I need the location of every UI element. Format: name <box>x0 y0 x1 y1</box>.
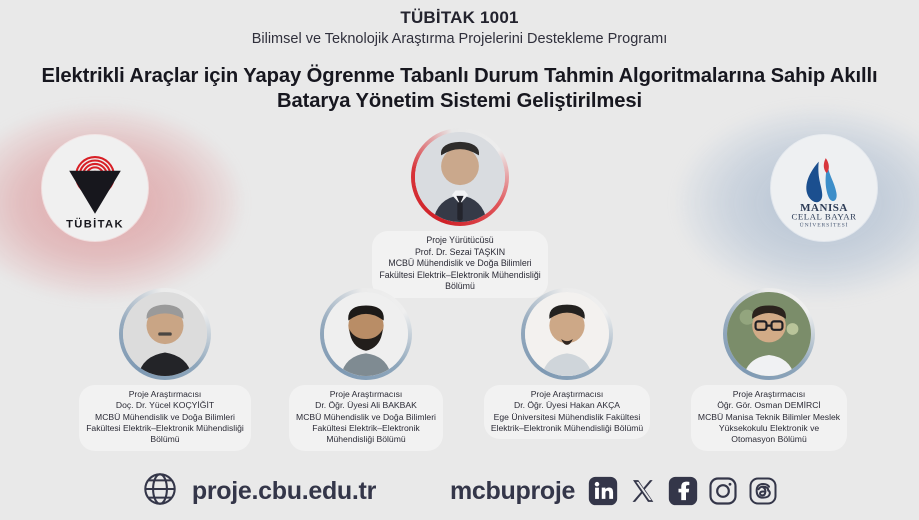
researcher-affiliation-line-2: Yüksekokulu Elektronik ve <box>698 423 840 434</box>
researcher-affiliation-line-3: Bölümü <box>86 434 244 445</box>
researcher-affiliation-line-2: Fakültesi Elektrik–Elektronik Mühendisli… <box>86 423 244 434</box>
mcbu-flame <box>806 158 836 202</box>
social-handle: mcbuproje <box>450 477 575 506</box>
social-group: mcbuproje <box>450 476 778 506</box>
researcher-affiliation-line-3: Otomasyon Bölümü <box>698 434 840 445</box>
threads-icon[interactable] <box>748 476 778 506</box>
poster-canvas: TÜBİTAK 1001 Bilimsel ve Teknolojik Araş… <box>0 0 919 520</box>
researcher-card: Proje Araştırmacısı Dr. Öğr. Üyesi Ali B… <box>278 288 454 451</box>
facebook-icon[interactable] <box>668 476 698 506</box>
leader-affiliation-line-1: MCBÜ Mühendislik ve Doğa Bilimleri <box>379 258 540 270</box>
website-group[interactable]: proje.cbu.edu.tr <box>141 470 376 513</box>
researcher-affiliation-line-1: MCBÜ Manisa Teknik Bilimler Meslek <box>698 412 840 423</box>
researcher-avatar <box>119 288 211 380</box>
header: TÜBİTAK 1001 Bilimsel ve Teknolojik Araş… <box>0 8 919 48</box>
researcher-affiliation-line-1: Ege Üniversitesi Mühendislik Fakültesi <box>491 412 643 423</box>
researcher-avatar <box>521 288 613 380</box>
researcher-avatar <box>320 288 412 380</box>
researcher-photo <box>525 292 609 376</box>
researcher-name: Öğr. Gör. Osman DEMİRCİ <box>698 400 840 411</box>
researcher-caption: Proje Araştırmacısı Doç. Dr. Yücel KOÇYİ… <box>79 385 251 451</box>
linkedin-icon[interactable] <box>588 476 618 506</box>
leader-photo <box>415 132 505 222</box>
researcher-role: Proje Araştırmacısı <box>698 389 840 400</box>
mcbu-line3: ÜNİVERSİTESİ <box>800 222 849 229</box>
leader-role: Proje Yürütücüsü <box>379 235 540 247</box>
program-code: TÜBİTAK 1001 <box>0 8 919 28</box>
leader-affiliation-line-2: Fakültesi Elektrik–Elektronik Mühendisli… <box>379 270 540 282</box>
x-twitter-icon[interactable] <box>628 476 658 506</box>
mcbu-logo: MANISA CELAL BAYAR ÜNİVERSİTESİ <box>771 135 877 241</box>
researcher-card: Proje Araştırmacısı Öğr. Gör. Osman DEMİ… <box>681 288 857 451</box>
researcher-card: Proje Araştırmacısı Doç. Dr. Yücel KOÇYİ… <box>77 288 253 451</box>
tubitak-logo: TÜBİTAK <box>42 135 148 241</box>
researcher-name: Doç. Dr. Yücel KOÇYİĞİT <box>86 400 244 411</box>
researcher-caption: Proje Araştırmacısı Dr. Öğr. Üyesi Ali B… <box>289 385 443 451</box>
social-icon-list <box>588 476 778 506</box>
footer: proje.cbu.edu.tr mcbuproje <box>0 462 919 520</box>
researcher-role: Proje Araştırmacısı <box>491 389 643 400</box>
globe-icon <box>141 470 179 513</box>
researcher-caption: Proje Araştırmacısı Dr. Öğr. Üyesi Hakan… <box>484 385 650 439</box>
researcher-photo <box>324 292 408 376</box>
researcher-role: Proje Araştırmacısı <box>296 389 436 400</box>
website-url[interactable]: proje.cbu.edu.tr <box>192 477 376 506</box>
researcher-photo <box>123 292 207 376</box>
program-name: Bilimsel ve Teknolojik Araştırma Projele… <box>0 31 919 48</box>
researcher-affiliation-line-2: Fakültesi Elektrik–Elektronik <box>296 423 436 434</box>
researcher-card: Proje Araştırmacısı Dr. Öğr. Üyesi Hakan… <box>479 288 655 439</box>
researcher-affiliation-line-3: Mühendisliği Bölümü <box>296 434 436 445</box>
researcher-photo <box>727 292 811 376</box>
researcher-role: Proje Araştırmacısı <box>86 389 244 400</box>
tubitak-wordmark: TÜBİTAK <box>66 218 124 231</box>
researcher-affiliation-line-1: MCBÜ Mühendislik ve Doğa Bilimleri <box>86 412 244 423</box>
researcher-affiliation-line-1: MCBÜ Mühendislik ve Doğa Bilimleri <box>296 412 436 423</box>
instagram-icon[interactable] <box>708 476 738 506</box>
project-leader-card: Proje Yürütücüsü Prof. Dr. Sezai TAŞKIN … <box>369 128 551 298</box>
researcher-affiliation-line-2: Elektrik–Elektronik Mühendisliği Bölümü <box>491 423 643 434</box>
researcher-name: Dr. Öğr. Üyesi Hakan AKÇA <box>491 400 643 411</box>
tubitak-mark: TÜBİTAK <box>52 145 138 231</box>
tubitak-triangle <box>69 171 121 214</box>
leader-avatar <box>411 128 509 226</box>
mcbu-mark: MANISA CELAL BAYAR ÜNİVERSİTESİ <box>780 144 868 232</box>
leader-name: Prof. Dr. Sezai TAŞKIN <box>379 247 540 259</box>
mcbu-line2: CELAL BAYAR <box>791 212 856 222</box>
researcher-avatar <box>723 288 815 380</box>
researcher-name: Dr. Öğr. Üyesi Ali BAKBAK <box>296 400 436 411</box>
researcher-caption: Proje Araştırmacısı Öğr. Gör. Osman DEMİ… <box>691 385 847 451</box>
project-title: Elektrikli Araçlar için Yapay Ögrenme Ta… <box>18 64 901 113</box>
